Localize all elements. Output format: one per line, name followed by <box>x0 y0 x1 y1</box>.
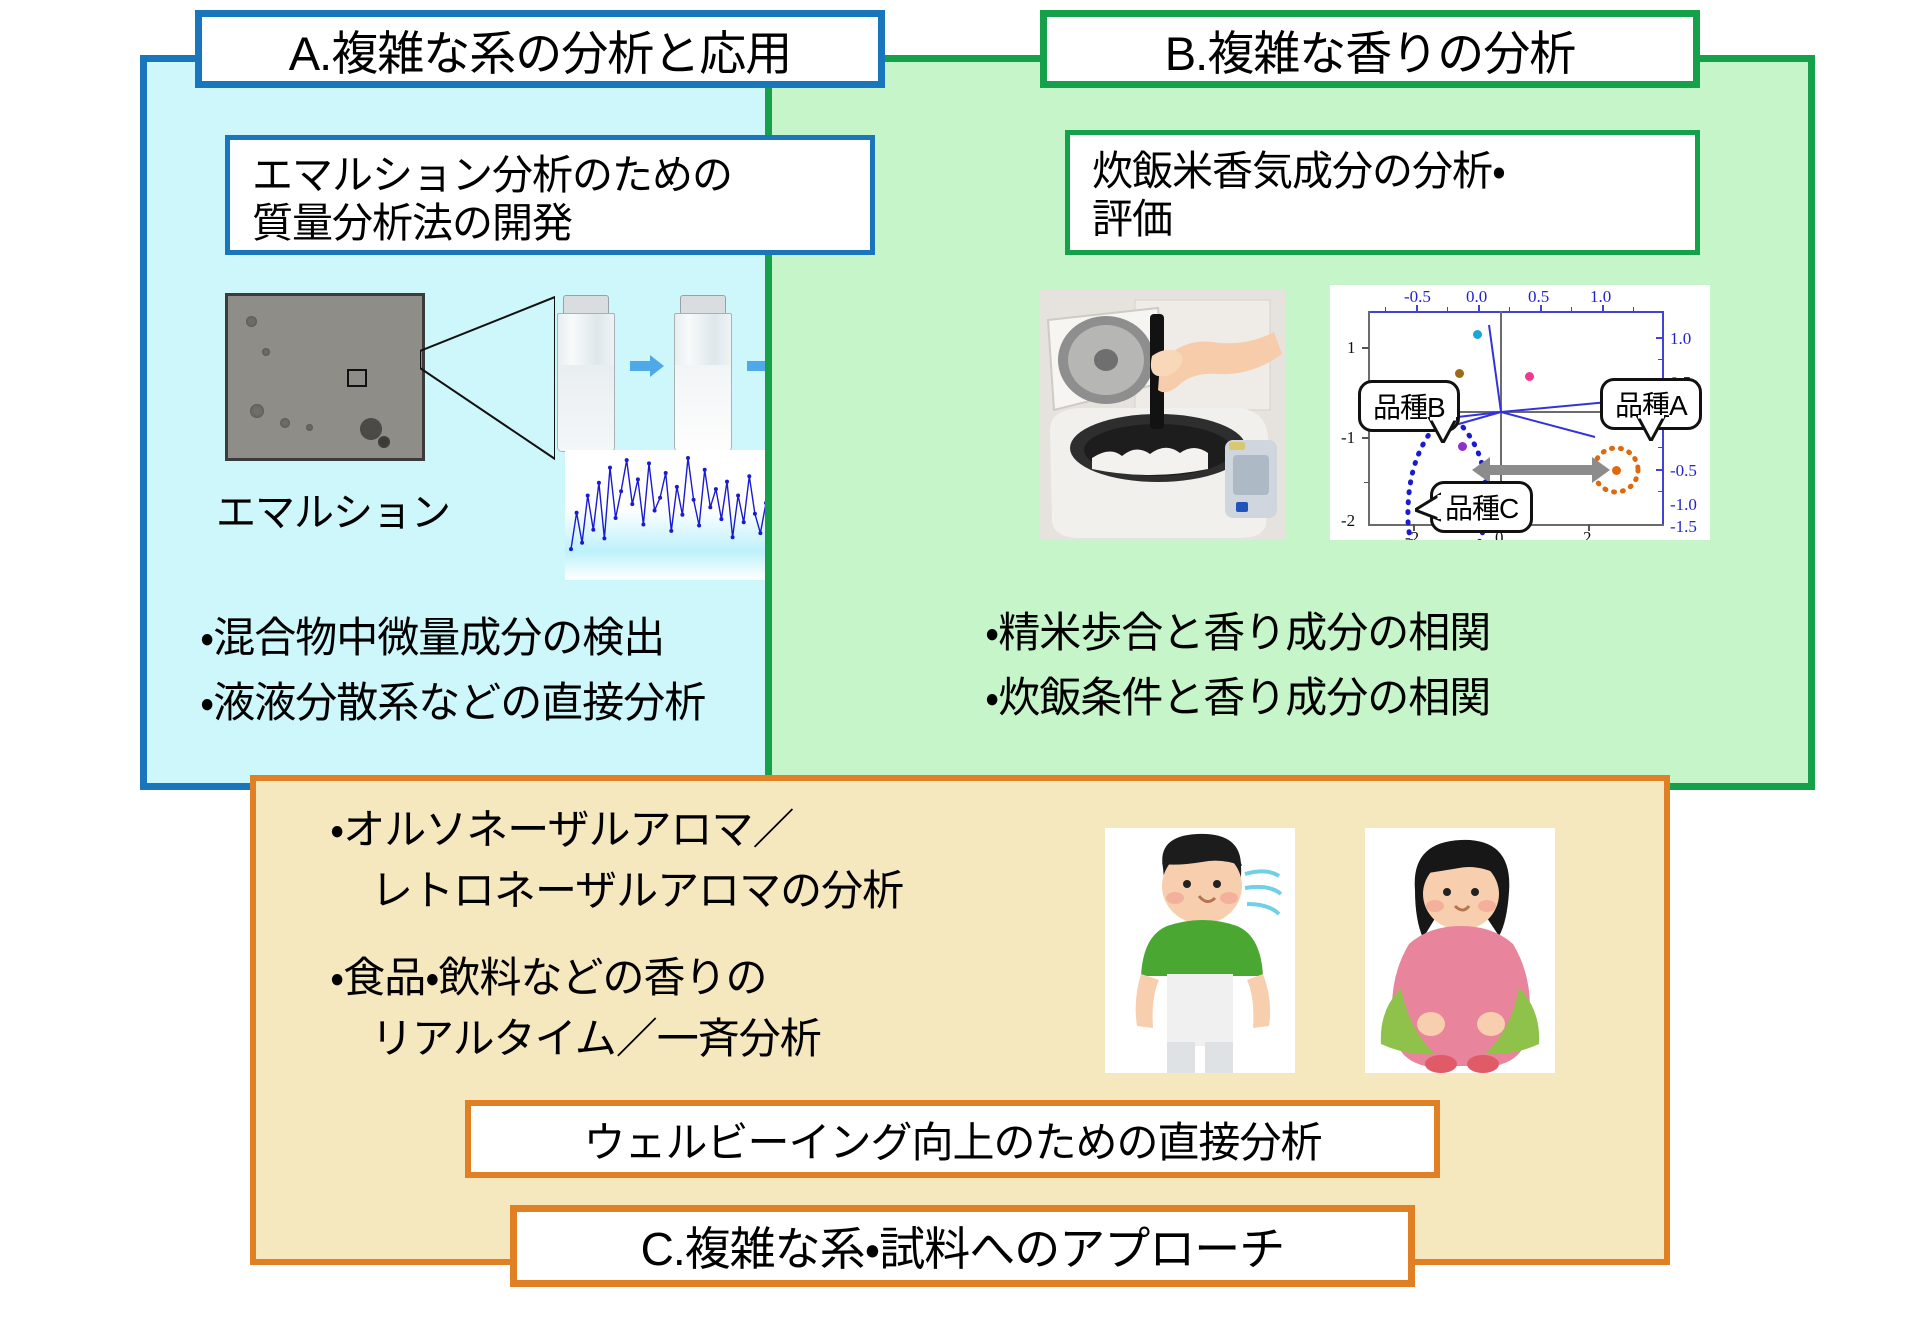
panel-a-bullet-2: ・液液分散系などの直接分析 <box>200 670 820 735</box>
panel-a-bullets: ・混合物中微量成分の検出 ・液液分散系などの直接分析 <box>200 605 820 735</box>
panel-a-subtitle-line2: 質量分析法の開発 <box>252 200 870 248</box>
panel-c-bullet-1: ・オルソネーザルアロマ／ <box>330 800 1160 861</box>
panel-c-bullet-3: ・食品・飲料などの香りの <box>330 948 1160 1009</box>
arrow-right-icon-1 <box>630 355 664 377</box>
panel-b-bullet-1: ・精米歩合と香り成分の相関 <box>985 600 1745 665</box>
panel-b-title: B.複雑な香りの分析 <box>1040 10 1700 88</box>
panel-c-title: C.複雑な系・試料へのアプローチ <box>510 1205 1415 1287</box>
panel-c-bullet-2: レトロネーザルアロマの分析 <box>330 861 1160 922</box>
callout-hinshu-b: 品種B <box>1358 380 1460 432</box>
magnify-cone-icon <box>420 293 555 463</box>
emulsion-micrograph-image <box>225 293 425 461</box>
panel-c-bullets: ・オルソネーザルアロマ／ レトロネーザルアロマの分析 ・食品・飲料などの香りの … <box>330 800 1160 1070</box>
panel-a-subtitle-line1: エマルション分析のための <box>252 152 870 200</box>
rice-cooker-photo <box>1040 290 1285 540</box>
illustration-woman-smelling <box>1365 828 1555 1073</box>
emulsion-caption: エマルション <box>188 480 478 538</box>
panel-b-subtitle-line2: 評価 <box>1092 196 1695 244</box>
callout-hinshu-c: 品種C <box>1430 481 1533 533</box>
panel-b-subtitle-box: 炊飯米香気成分の分析・ 評価 <box>1065 130 1700 255</box>
panel-b-bullets: ・精米歩合と香り成分の相関 ・炊飯条件と香り成分の相関 <box>985 600 1745 730</box>
callout-hinshu-c-label: 品種C <box>1445 493 1518 524</box>
panel-a-subtitle-box: エマルション分析のための 質量分析法の開発 <box>225 135 875 255</box>
panel-a-bullet-1: ・混合物中微量成分の検出 <box>200 605 820 670</box>
panel-c-box-wellbeing: ウェルビーイング向上のための直接分析 <box>465 1100 1440 1178</box>
panel-c-bullet-4: リアルタイム／一斉分析 <box>330 1009 1160 1070</box>
panel-a-title: A.複雑な系の分析と応用 <box>195 10 885 88</box>
vial-sample-2 <box>670 295 734 450</box>
diagram-root: A.複雑な系の分析と応用 エマルション分析のための 質量分析法の開発 エマルショ… <box>0 0 1907 1320</box>
panel-b-subtitle-line1: 炊飯米香気成分の分析・ <box>1092 148 1695 196</box>
vial-sample-1 <box>553 295 617 450</box>
illustration-man-smelling <box>1105 828 1295 1073</box>
callout-hinshu-a: 品種A <box>1600 378 1702 430</box>
panel-b-bullet-2: ・炊飯条件と香り成分の相関 <box>985 665 1745 730</box>
